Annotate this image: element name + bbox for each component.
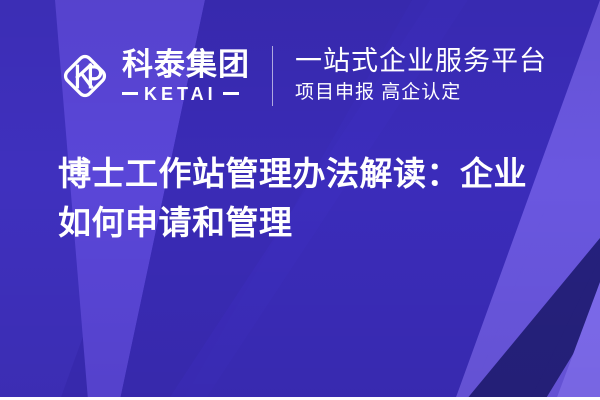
brand-name-en: KETAI: [144, 85, 217, 103]
tagline-primary: 一站式企业服务平台: [295, 46, 547, 78]
ketai-diamond-kp-monogram-icon: [58, 49, 112, 103]
brand-logo-text: 科泰集团 KETAI: [122, 49, 250, 103]
brand-name-en-row: KETAI: [122, 85, 250, 103]
header-divider: [272, 46, 273, 106]
brand-tagline: 一站式企业服务平台 项目申报 高企认定: [295, 46, 547, 106]
tagline-secondary: 项目申报 高企认定: [295, 81, 547, 106]
logo-dash-right-icon: [223, 92, 239, 95]
banner-header: 科泰集团 KETAI 一站式企业服务平台 项目申报 高企认定: [0, 40, 600, 112]
brand-logo: 科泰集团 KETAI: [58, 49, 250, 103]
brand-name-cn: 科泰集团: [122, 49, 250, 82]
page-title: 博士工作站管理办法解读：企业如何申请和管理: [58, 150, 558, 248]
article-cover-banner: 科泰集团 KETAI 一站式企业服务平台 项目申报 高企认定 博士工作站管理办法…: [0, 0, 600, 400]
logo-dash-left-icon: [122, 92, 138, 95]
